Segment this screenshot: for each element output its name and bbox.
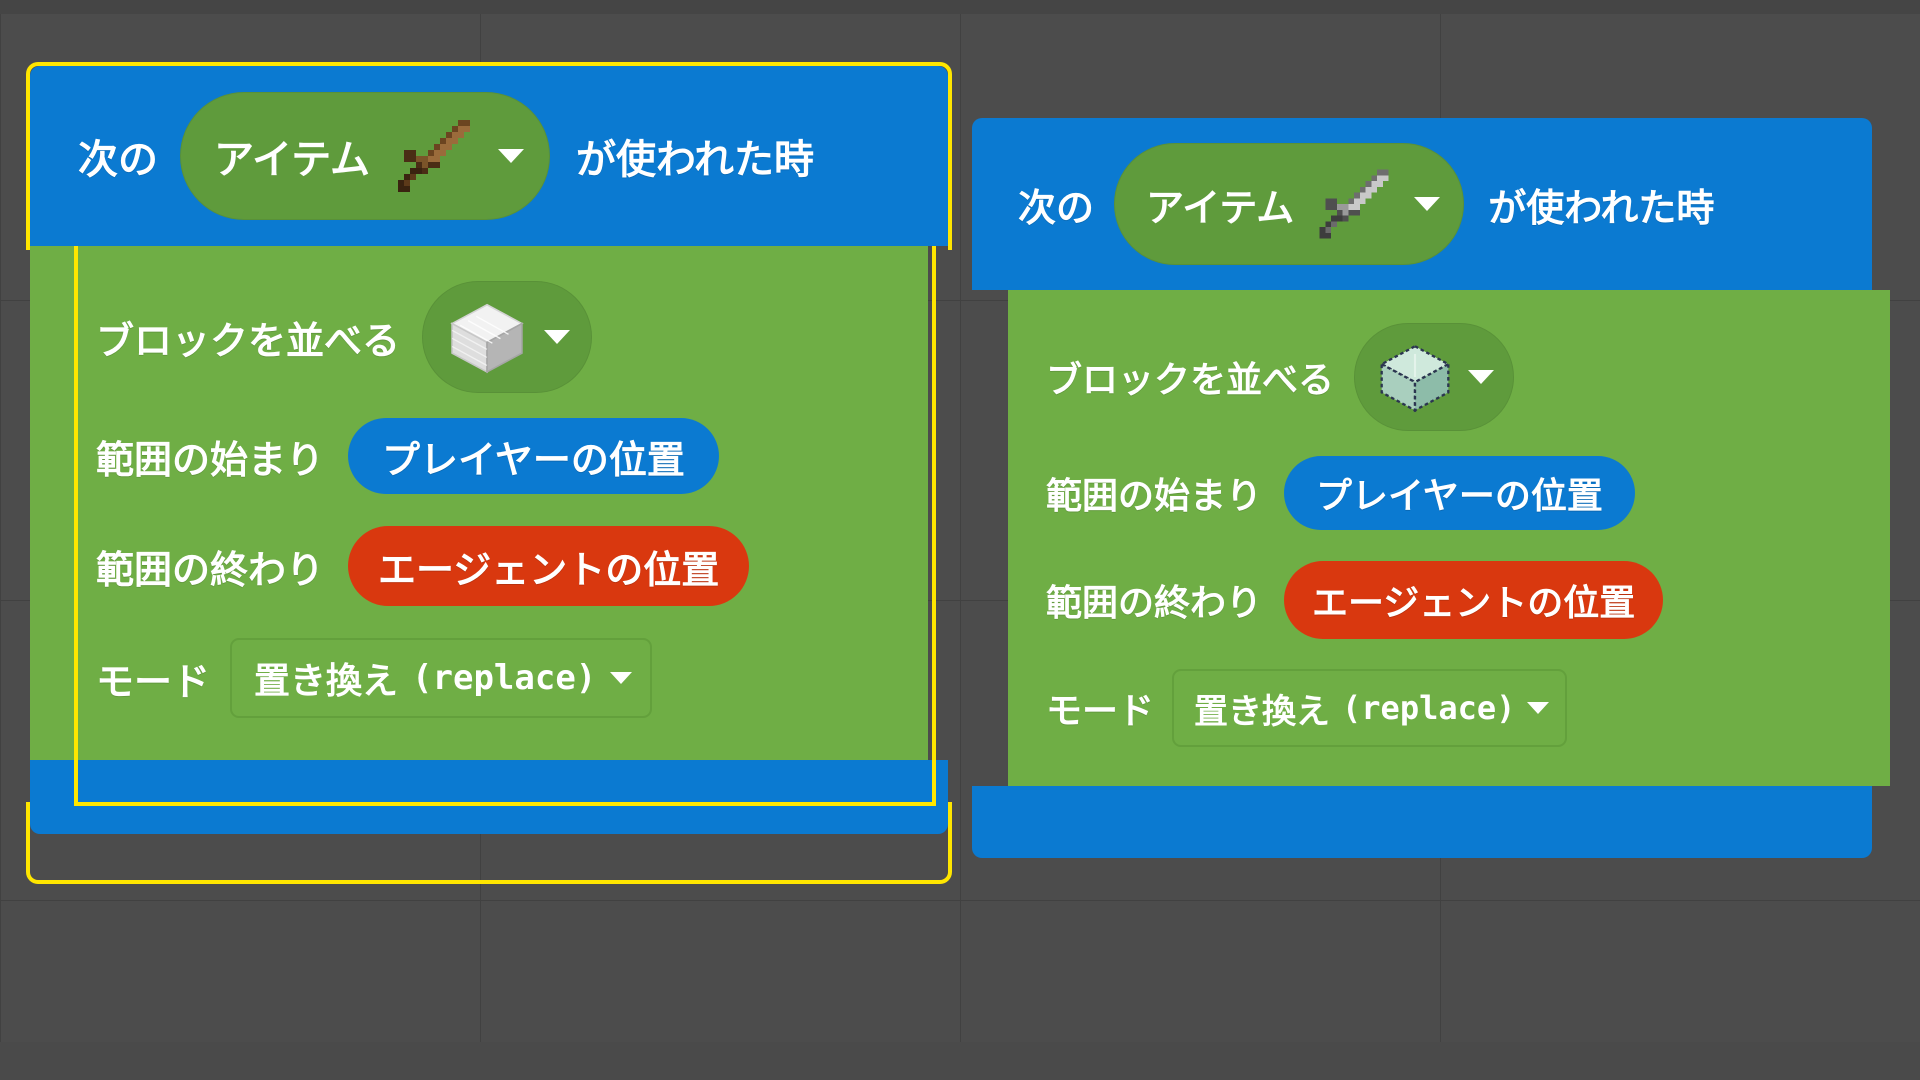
reporter-agent-position-left[interactable]: エージェントの位置 bbox=[348, 526, 749, 606]
row-label-range-end-right: 範囲の終わり bbox=[1046, 574, 1262, 626]
reporter-label-right-1: エージェントの位置 bbox=[1312, 574, 1635, 626]
hat-suffix-label-left: が使われた時 bbox=[576, 127, 814, 185]
row-mode-left[interactable]: モード 置き換え (replace) bbox=[30, 622, 928, 736]
block-dropdown-field-left[interactable] bbox=[422, 281, 592, 393]
reporter-player-position-right[interactable]: プレイヤーの位置 bbox=[1284, 456, 1635, 530]
hat-suffix-label-right: が使われた時 bbox=[1488, 177, 1714, 232]
row-label-mode-right: モード bbox=[1046, 682, 1154, 734]
blocks-workspace[interactable]: 次の アイテム bbox=[0, 0, 1920, 1080]
white-block-icon bbox=[444, 294, 530, 380]
mode-dropdown-field-right[interactable]: 置き換え (replace) bbox=[1172, 669, 1567, 747]
chevron-down-icon[interactable] bbox=[1414, 197, 1440, 211]
place-blocks-body-right[interactable]: ブロックを並べる 範囲の始まり プレイヤー bbox=[1008, 290, 1890, 786]
reporter-label-left-0: プレイヤーの位置 bbox=[382, 429, 685, 484]
row-range-start-left[interactable]: 範囲の始まり プレイヤーの位置 bbox=[30, 402, 928, 510]
mode-value-en-right: (replace) bbox=[1342, 689, 1515, 727]
block-stack-right[interactable]: 次の アイテム bbox=[972, 118, 1920, 858]
item-dropdown-field-left[interactable]: アイテム bbox=[180, 92, 550, 220]
mode-value-jp-left: 置き換え bbox=[254, 652, 398, 704]
row-range-start-right[interactable]: 範囲の始まり プレイヤーの位置 bbox=[1008, 440, 1890, 546]
block-dropdown-field-right[interactable] bbox=[1354, 323, 1514, 431]
hat-prefix-label-right: 次の bbox=[1018, 177, 1094, 232]
row-label-range-start-right: 範囲の始まり bbox=[1046, 467, 1262, 519]
glass-block-icon bbox=[1374, 336, 1456, 418]
row-label-place-blocks-left: ブロックを並べる bbox=[96, 310, 400, 365]
reporter-label-right-0: プレイヤーの位置 bbox=[1316, 467, 1603, 519]
event-hat-block-right[interactable]: 次の アイテム bbox=[972, 118, 1872, 290]
row-range-end-left[interactable]: 範囲の終わり エージェントの位置 bbox=[30, 510, 928, 622]
mode-value-en-left: (replace) bbox=[412, 658, 596, 698]
stone-sword-icon bbox=[1308, 158, 1400, 250]
item-dropdown-field-right[interactable]: アイテム bbox=[1114, 143, 1464, 265]
row-place-blocks-right[interactable]: ブロックを並べる bbox=[1008, 314, 1890, 440]
stack-foot-left[interactable] bbox=[30, 760, 948, 834]
chevron-down-icon[interactable] bbox=[1527, 702, 1549, 714]
wooden-sword-icon bbox=[386, 108, 482, 204]
mode-dropdown-field-left[interactable]: 置き換え (replace) bbox=[230, 638, 652, 718]
event-hat-block-left[interactable]: 次の アイテム bbox=[30, 66, 948, 246]
mode-value-jp-right: 置き換え bbox=[1194, 684, 1330, 733]
reporter-label-left-1: エージェントの位置 bbox=[378, 539, 719, 594]
item-dropdown-label-left: アイテム bbox=[214, 127, 370, 185]
row-label-place-blocks-right: ブロックを並べる bbox=[1046, 351, 1334, 403]
reporter-player-position-left[interactable]: プレイヤーの位置 bbox=[348, 418, 719, 494]
block-stack-left[interactable]: 次の アイテム bbox=[30, 66, 980, 834]
chevron-down-icon[interactable] bbox=[1468, 370, 1494, 384]
stack-foot-right[interactable] bbox=[972, 786, 1872, 858]
row-label-mode-left: モード bbox=[96, 651, 210, 706]
row-place-blocks-left[interactable]: ブロックを並べる bbox=[30, 272, 928, 402]
row-label-range-end-left: 範囲の終わり bbox=[96, 539, 324, 594]
chevron-down-icon[interactable] bbox=[544, 330, 570, 344]
hat-prefix-label-left: 次の bbox=[78, 127, 158, 185]
chevron-down-icon[interactable] bbox=[610, 672, 632, 684]
row-range-end-right[interactable]: 範囲の終わり エージェントの位置 bbox=[1008, 546, 1890, 654]
reporter-agent-position-right[interactable]: エージェントの位置 bbox=[1284, 561, 1663, 639]
item-dropdown-label-right: アイテム bbox=[1146, 177, 1294, 232]
chevron-down-icon[interactable] bbox=[498, 149, 524, 163]
row-label-range-start-left: 範囲の始まり bbox=[96, 429, 324, 484]
place-blocks-body-left[interactable]: ブロックを並べる bbox=[30, 246, 928, 760]
row-mode-right[interactable]: モード 置き換え (replace) bbox=[1008, 654, 1890, 764]
